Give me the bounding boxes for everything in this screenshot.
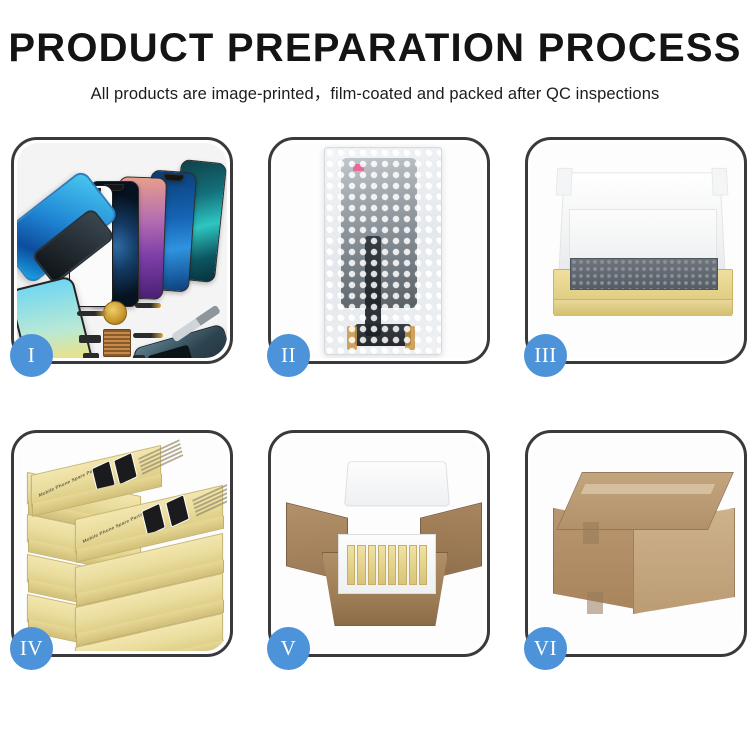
sealed-carton — [553, 472, 735, 622]
packed-box — [357, 545, 365, 585]
step-panel-6: VI — [525, 430, 747, 657]
packing-tape — [581, 484, 715, 494]
page-title: PRODUCT PREPARATION PROCESS — [0, 26, 750, 70]
step-1-image — [17, 143, 227, 358]
gold-contact — [405, 326, 415, 350]
stacked-box-top: Mobile Phone Spare Parts — [31, 445, 161, 507]
box-spec-lines — [192, 481, 227, 518]
packed-box — [409, 545, 417, 585]
step-5-image — [274, 436, 484, 651]
packed-box — [398, 545, 406, 585]
connector-part — [79, 335, 101, 343]
tape-seal — [587, 592, 603, 614]
packed-box — [347, 545, 355, 585]
wrapped-flex-cable — [365, 236, 381, 336]
page-header: PRODUCT PREPARATION PROCESS All products… — [0, 0, 750, 104]
flex-cable-part — [133, 333, 163, 338]
packed-box — [419, 545, 427, 585]
step-panel-3: III — [525, 137, 747, 364]
step-badge-3: III — [524, 334, 567, 377]
flex-cable-part — [77, 311, 107, 316]
wrapped-connector — [355, 324, 411, 346]
step-4-image: Mobile Phone Spare Parts Mobile Phone Sp… — [17, 436, 227, 651]
shipping-carton-open — [300, 490, 468, 630]
step-badge-5: V — [267, 627, 310, 670]
step-panel-5: V — [268, 430, 490, 657]
speaker-part — [133, 355, 145, 358]
step-3-image — [531, 143, 741, 358]
tape-seal — [583, 522, 599, 544]
foam-box-lid — [344, 461, 450, 506]
phone-notch-icon — [164, 173, 184, 181]
chip-grid-part — [103, 329, 131, 357]
process-steps-grid: I II III — [11, 137, 739, 657]
bubble-wrap-fill — [570, 258, 718, 290]
bubble-wrap-bag — [324, 147, 442, 355]
step-badge-4: IV — [10, 627, 53, 670]
packed-box — [378, 545, 386, 585]
box-side — [76, 640, 224, 651]
packed-boxes-row — [347, 545, 427, 585]
flex-cable-part — [135, 303, 161, 308]
tray-front-panel — [554, 299, 732, 316]
step-panel-4: Mobile Phone Spare Parts Mobile Phone Sp… — [11, 430, 233, 657]
packed-box — [368, 545, 376, 585]
pink-label-sticker — [353, 164, 364, 171]
step-badge-6: VI — [524, 627, 567, 670]
packed-box — [388, 545, 396, 585]
page-subtitle: All products are image-printed，film-coat… — [0, 80, 750, 104]
foam-box — [338, 534, 436, 594]
step-2-image — [274, 143, 484, 358]
gold-contact — [347, 326, 357, 350]
box-stack-group: Mobile Phone Spare Parts Mobile Phone Sp… — [27, 458, 227, 648]
box-window-graphic — [165, 494, 190, 527]
box-spec-lines — [138, 439, 183, 476]
step-panel-2: II — [268, 137, 490, 364]
step-badge-2: II — [267, 334, 310, 377]
kraft-tray-box — [553, 269, 733, 315]
step-panel-1: I — [11, 137, 233, 364]
button-part — [83, 353, 99, 358]
step-6-image — [531, 436, 741, 651]
step-badge-1: I — [10, 334, 53, 377]
